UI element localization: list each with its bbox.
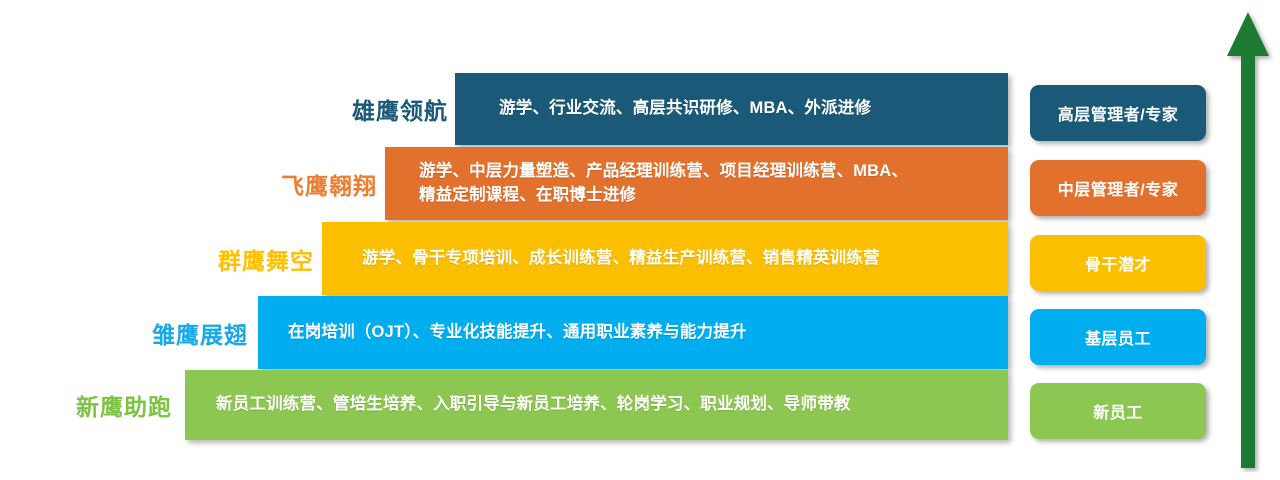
audience-badge-3[interactable]: 骨干潜才 (1030, 235, 1206, 291)
level-content-3: 游学、骨干专项培训、成长训练营、精益生产训练营、销售精英训练营 (322, 247, 894, 271)
stage-label-1: 雄鹰领航 (352, 92, 448, 126)
level-content-4: 在岗培训（OJT）、专业化技能提升、通用职业素养与能力提升 (258, 321, 761, 345)
level-content-1: 游学、行业交流、高层共识研修、MBA、外派进修 (455, 97, 885, 121)
level-bar-3: 游学、骨干专项培训、成长训练营、精益生产训练营、销售精英训练营 (322, 222, 1008, 295)
audience-badge-label-5: 新员工 (1093, 399, 1143, 423)
stage-label-4: 雏鹰展翅 (152, 316, 248, 350)
pyramid-diagram: 雄鹰领航 游学、行业交流、高层共识研修、MBA、外派进修 飞鹰翱翔 游学、中层力… (0, 0, 1280, 480)
audience-badge-5[interactable]: 新员工 (1030, 383, 1206, 439)
audience-badge-2[interactable]: 中层管理者/专家 (1030, 160, 1206, 216)
audience-badge-1[interactable]: 高层管理者/专家 (1030, 85, 1206, 141)
audience-badge-label-2: 中层管理者/专家 (1058, 176, 1178, 200)
level-bar-4: 在岗培训（OJT）、专业化技能提升、通用职业素养与能力提升 (258, 296, 1008, 369)
audience-badge-label-3: 骨干潜才 (1085, 251, 1151, 275)
level-row-2: 飞鹰翱翔 游学、中层力量塑造、产品经理训练营、项目经理训练营、MBA、 精益定制… (0, 147, 1010, 220)
level-bar-1: 游学、行业交流、高层共识研修、MBA、外派进修 (455, 73, 1008, 145)
audience-badge-label-1: 高层管理者/专家 (1058, 101, 1178, 125)
level-bar-5: 新员工训练营、管培生培养、入职引导与新员工培养、轮岗学习、职业规划、导师带教 (185, 370, 1008, 440)
stage-label-3: 群鹰舞空 (218, 242, 314, 276)
stage-label-2: 飞鹰翱翔 (281, 167, 377, 201)
level-row-3: 群鹰舞空 游学、骨干专项培训、成长训练营、精益生产训练营、销售精英训练营 (0, 222, 1010, 295)
audience-badge-4[interactable]: 基层员工 (1030, 309, 1206, 365)
audience-badge-label-4: 基层员工 (1085, 325, 1151, 349)
level-row-4: 雏鹰展翅 在岗培训（OJT）、专业化技能提升、通用职业素养与能力提升 (0, 296, 1010, 369)
level-row-1: 雄鹰领航 游学、行业交流、高层共识研修、MBA、外派进修 (0, 73, 1010, 145)
level-content-2: 游学、中层力量塑造、产品经理训练营、项目经理训练营、MBA、 精益定制课程、在职… (385, 160, 922, 208)
stage-label-5: 新鹰助跑 (76, 388, 172, 422)
level-bar-2: 游学、中层力量塑造、产品经理训练营、项目经理训练营、MBA、 精益定制课程、在职… (385, 147, 1008, 220)
level-row-5: 新鹰助跑 新员工训练营、管培生培养、入职引导与新员工培养、轮岗学习、职业规划、导… (0, 370, 1010, 440)
growth-arrow-icon (1222, 8, 1274, 472)
level-content-5: 新员工训练营、管培生培养、入职引导与新员工培养、轮岗学习、职业规划、导师带教 (185, 393, 865, 417)
